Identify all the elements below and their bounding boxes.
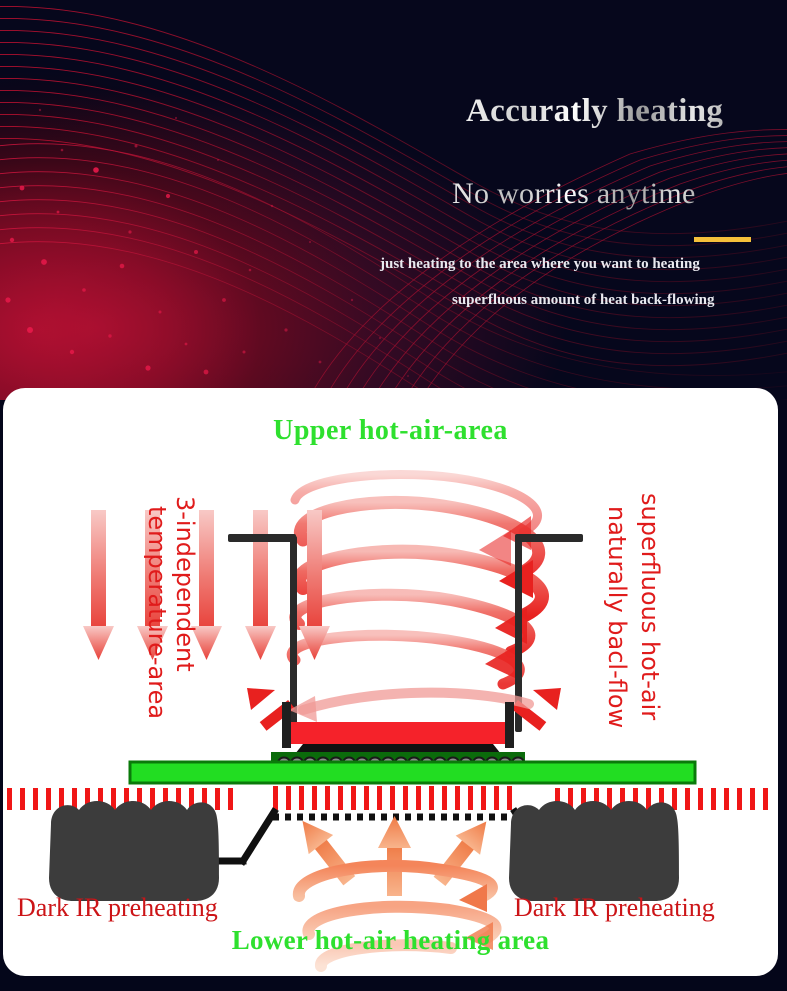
left-vertical-label-1: 3-independent <box>171 496 199 672</box>
conveyor-belt <box>130 762 695 783</box>
hero-bullet-line-1: just heating to the area where you want … <box>380 256 700 273</box>
lower-area-label: Lower hot-air heating area <box>3 925 778 956</box>
lower-upward-arrows <box>290 811 498 896</box>
blob-left <box>49 801 219 901</box>
diagram-panel: Upper hot-air-area 3-independent tempera… <box>3 388 778 976</box>
lateral-backflow-arrow <box>303 693 529 710</box>
blob-right <box>509 801 679 901</box>
hero-title: Accuratly heating <box>466 93 723 130</box>
right-vertical-label-1: superfluous hot-air <box>636 493 664 720</box>
right-vertical-label-2: naturally bacl-flow <box>603 506 631 728</box>
left-vertical-label-2: temperature-area <box>143 506 171 719</box>
preheat-label-right: Dark IR preheating <box>514 893 715 923</box>
promo-banner: Accuratly heating No worries anytime jus… <box>0 0 787 991</box>
hero-subtitle: No worries anytime <box>452 177 696 211</box>
accent-divider <box>694 237 751 242</box>
upper-area-label: Upper hot-air-area <box>3 415 778 447</box>
hero-bullet-line-2: superfluous amount of heat back-flowing <box>452 292 715 309</box>
hero-section: Accuratly heating No worries anytime jus… <box>0 0 787 400</box>
ir-tick-group-center <box>273 786 512 810</box>
preheat-label-left: Dark IR preheating <box>17 893 218 923</box>
ir-preheat-blobs <box>49 801 679 901</box>
